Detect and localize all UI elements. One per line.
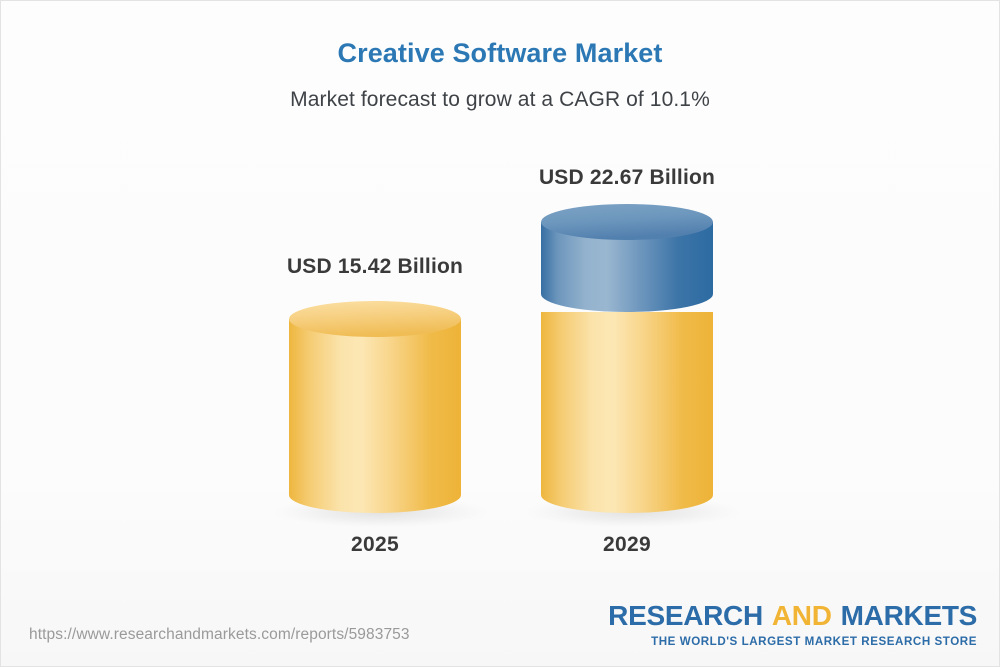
bar-2029-top-cap <box>541 204 713 240</box>
source-url-link[interactable]: https://www.researchandmarkets.com/repor… <box>29 626 410 644</box>
chart-plot-area: USD 15.42 Billion USD 22.67 Billion 2025… <box>1 1 1000 601</box>
bar-2029-segment-base <box>541 312 713 513</box>
research-and-markets-logo[interactable]: RESEARCHANDMARKETS THE WORLD'S LARGEST M… <box>608 602 977 648</box>
logo-wordmark: RESEARCHANDMARKETS <box>608 602 977 630</box>
logo-word-markets: MARKETS <box>841 600 977 631</box>
infographic-canvas: Creative Software Market Market forecast… <box>0 0 1000 667</box>
logo-word-and: AND <box>772 600 832 631</box>
value-label-2025: USD 15.42 Billion <box>225 255 525 279</box>
bar-2025-top-cap <box>289 301 461 337</box>
bar-2025[interactable] <box>289 301 461 513</box>
category-label-2029: 2029 <box>477 533 777 557</box>
bar-2025-body <box>289 319 461 513</box>
logo-tagline: THE WORLD'S LARGEST MARKET RESEARCH STOR… <box>608 635 977 648</box>
footer: https://www.researchandmarkets.com/repor… <box>1 596 999 666</box>
logo-word-research: RESEARCH <box>608 600 763 631</box>
cylinder-bar-chart-svg <box>1 1 1000 601</box>
bar-2029[interactable] <box>541 204 713 513</box>
value-label-2029: USD 22.67 Billion <box>477 166 777 190</box>
